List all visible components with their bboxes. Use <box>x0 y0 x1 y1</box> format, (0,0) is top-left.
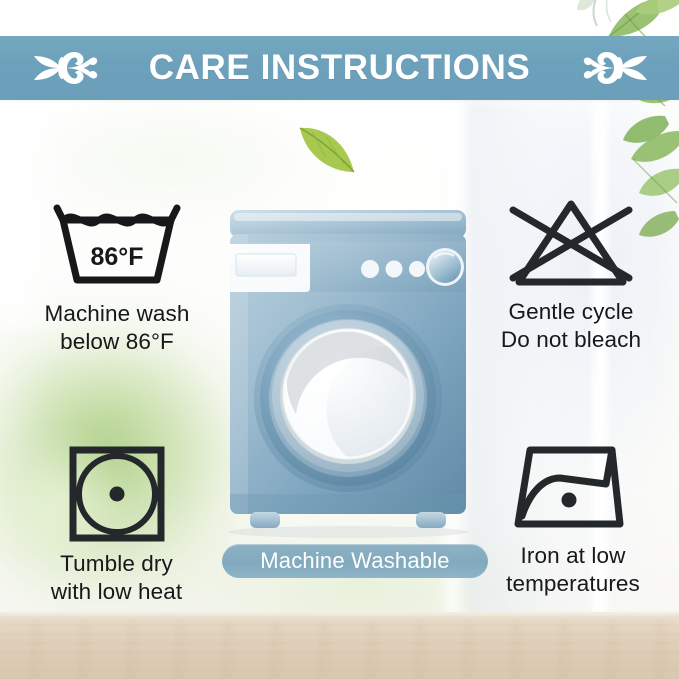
machine-foot-right <box>416 512 446 528</box>
care-symbol-do-not-bleach: Gentle cycle Do not bleach <box>466 196 676 354</box>
iron-one-dot-icon <box>508 444 638 536</box>
tumble-dry-heat-dot <box>109 487 124 502</box>
machine-foot-left <box>250 512 280 528</box>
table-wood-grain-secondary <box>0 620 679 679</box>
wash-tub-icon: 86°F <box>43 198 191 294</box>
care-instructions-infographic: CARE INSTRUCTIONS <box>0 0 679 679</box>
indicator-light-1 <box>361 260 379 278</box>
care-caption-machine-wash: Machine wash below 86°F <box>12 300 222 356</box>
care-caption-tumble-dry: Tumble dry with low heat <box>14 550 219 606</box>
care-symbol-tumble-dry: Tumble dry with low heat <box>14 444 219 606</box>
care-symbol-machine-wash: 86°F Machine wash below 86°F <box>12 198 222 356</box>
machine-washable-badge: Machine Washable <box>222 544 488 578</box>
tumble-dry-square-circle-icon <box>67 444 167 544</box>
care-symbol-iron: Iron at low temperatures <box>468 444 678 598</box>
iron-heat-dot <box>562 493 577 508</box>
indicator-light-3 <box>409 261 425 277</box>
crossed-triangle-do-not-bleach-icon <box>497 196 645 292</box>
indicator-light-2 <box>386 261 403 278</box>
care-caption-iron: Iron at low temperatures <box>468 542 678 598</box>
page-title: CARE INSTRUCTIONS <box>0 36 679 100</box>
machine-washable-badge-label: Machine Washable <box>260 548 449 574</box>
table-edge-highlight <box>0 612 679 618</box>
control-dial <box>429 251 461 283</box>
wash-temperature-label: 86°F <box>90 243 143 271</box>
detergent-drawer-slot <box>236 254 296 276</box>
floating-leaf-icon <box>296 122 358 178</box>
washing-machine-illustration <box>222 208 474 538</box>
care-caption-do-not-bleach: Gentle cycle Do not bleach <box>466 298 676 354</box>
